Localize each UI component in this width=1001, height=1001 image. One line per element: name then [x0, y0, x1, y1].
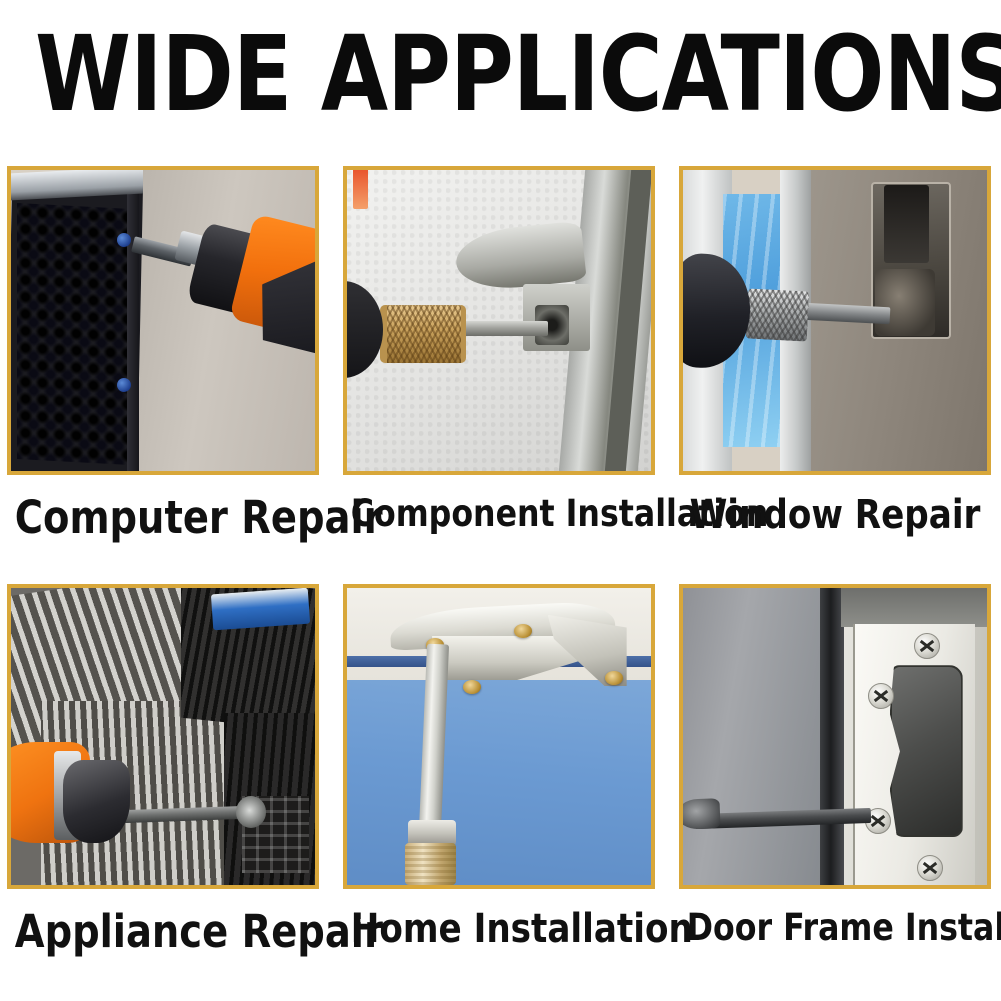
photo-component-installation	[347, 170, 651, 471]
photo-home-installation	[347, 588, 651, 885]
blue-wall	[347, 680, 651, 885]
infographic-page: WIDE APPLICATIONS	[0, 0, 1001, 1001]
latch-slot	[884, 185, 930, 263]
application-cell-computer-repair: Computer Repair	[7, 166, 319, 540]
brass-screw	[514, 624, 532, 638]
bit-tip	[236, 796, 266, 828]
drill-chuck	[63, 760, 130, 843]
case-edge	[127, 182, 139, 471]
case-mesh-panel	[17, 203, 129, 465]
cell-caption: Home Installation	[351, 909, 647, 949]
door-gap-shadow	[820, 588, 844, 885]
blue-panel	[211, 588, 311, 630]
application-cell-appliance-repair: Appliance Repair	[7, 584, 319, 954]
photo-frame	[343, 166, 655, 475]
photo-frame	[343, 584, 655, 889]
jamb-top-shadow	[841, 588, 987, 627]
application-cell-door-frame-installation: Door Frame Installation	[679, 584, 991, 946]
cell-caption: Computer Repair	[15, 495, 311, 540]
application-grid: Computer Repair Component Installati	[7, 166, 995, 966]
blue-screw	[117, 378, 131, 392]
page-title: WIDE APPLICATIONS	[35, 22, 966, 126]
photo-appliance-repair	[11, 588, 315, 885]
photo-frame	[679, 584, 991, 889]
cell-caption: Door Frame Installation	[687, 909, 983, 946]
strike-plate-opening	[890, 665, 963, 837]
latch-mechanism	[875, 269, 936, 335]
cell-caption: Window Repair	[687, 495, 983, 535]
photo-frame	[679, 166, 991, 475]
door-panel	[683, 588, 823, 885]
application-cell-window-repair: Window Repair	[679, 166, 991, 535]
extension-shaft	[463, 321, 548, 336]
photo-frame	[7, 166, 319, 475]
phillips-screw	[914, 633, 940, 659]
brass-knurled-extension	[380, 305, 465, 363]
photo-window-repair	[683, 170, 987, 471]
cell-caption: Component Installation	[351, 495, 647, 532]
application-cell-component-installation: Component Installation	[343, 166, 655, 532]
photo-frame	[7, 584, 319, 889]
photo-computer-repair	[11, 170, 315, 471]
chrome-knurled-extension	[746, 289, 809, 342]
photo-door-frame-installation	[683, 588, 987, 885]
brass-screw	[463, 680, 481, 694]
cell-caption: Appliance Repair	[15, 909, 311, 954]
bit-holder	[683, 798, 720, 829]
application-cell-home-installation: Home Installation	[343, 584, 655, 949]
brass-knurled-collar	[405, 843, 457, 885]
rod-collar	[408, 820, 457, 847]
red-accent	[353, 170, 368, 209]
